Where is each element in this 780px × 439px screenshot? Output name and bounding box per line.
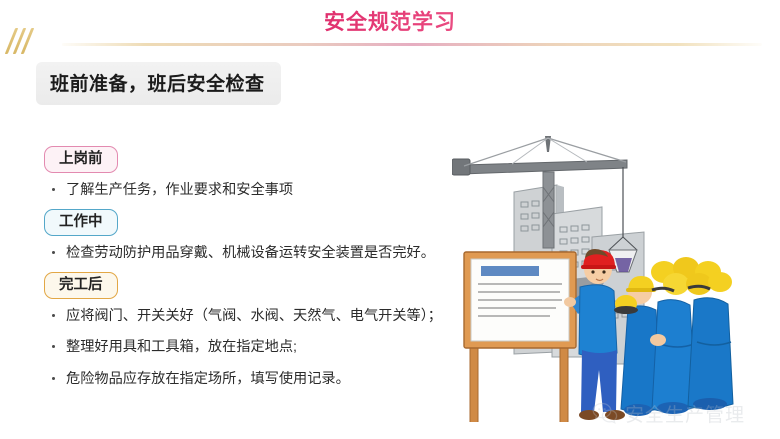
watermark: 安全生产管理 [592, 398, 770, 428]
status-badge-before-duty: 上岗前 [44, 146, 118, 173]
construction-site-illustration [452, 132, 776, 422]
status-badge-during-work: 工作中 [44, 209, 118, 236]
notice-board-icon [464, 252, 576, 422]
watermark-text: 安全生产管理 [625, 400, 745, 427]
list-item: 检查劳动防护用品穿戴、机械设备运转安全装置是否完好。 [44, 243, 435, 264]
workers-yellow-helmets-icon [614, 257, 733, 416]
section-during-work: 工作中 检查劳动防护用品穿戴、机械设备运转安全装置是否完好。 [44, 209, 435, 274]
page-title: 安全规范学习 [0, 6, 780, 36]
section-subtitle: 班前准备，班后安全检查 [36, 62, 281, 105]
list-item: 危险物品应存放在指定场所，填写使用记录。 [44, 369, 442, 390]
slide-header: 安全规范学习 [0, 0, 780, 50]
section-after-work: 完工后 应将阀门、开关关好（气阀、水阀、天然气、电气开关等）； 整理好用具和工具… [44, 272, 442, 400]
bullet-list-before-duty: 了解生产任务，作业要求和安全事项 [44, 180, 293, 201]
status-badge-after-work: 完工后 [44, 272, 118, 299]
list-item: 整理好用具和工具箱，放在指定地点; [44, 337, 442, 358]
section-before-duty: 上岗前 了解生产任务，作业要求和安全事项 [44, 146, 293, 211]
title-divider [62, 43, 762, 46]
slide-canvas: 安全规范学习 班前准备，班后安全检查 上岗前 了解生产任务，作业要求和安全事项 … [0, 0, 780, 439]
wechat-icon [592, 402, 618, 424]
bullet-list-during-work: 检查劳动防护用品穿戴、机械设备运转安全装置是否完好。 [44, 243, 435, 264]
bullet-list-after-work: 应将阀门、开关关好（气阀、水阀、天然气、电气开关等）； 整理好用具和工具箱，放在… [44, 306, 442, 390]
list-item: 应将阀门、开关关好（气阀、水阀、天然气、电气开关等）； [44, 306, 442, 327]
list-item: 了解生产任务，作业要求和安全事项 [44, 180, 293, 201]
